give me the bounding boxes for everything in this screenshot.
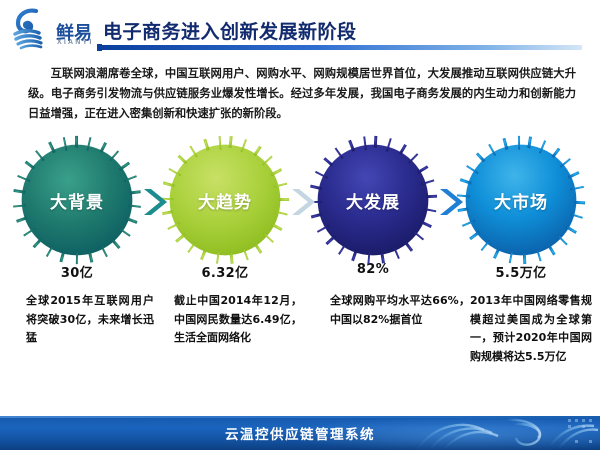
chevron-right-icon-2: [288, 186, 318, 218]
flow-step-1[interactable]: 大背景: [18, 141, 136, 259]
intro-paragraph: 互联网浪潮席卷全球，中国互联网用户、网购水平、网购规模居世界首位，大发展推动互联…: [28, 64, 576, 124]
logo-pinyin: XIANYI: [57, 39, 94, 46]
description-2: 截止中国2014年12月，中国网民数量达6.49亿，生活全面网络化: [174, 292, 302, 348]
chevron-right-icon-1: [140, 186, 170, 218]
brand-logo: 鲜易 XIANYI: [12, 8, 98, 52]
flow-step-4[interactable]: 大市场: [462, 141, 580, 259]
description-3: 全球网购平均水平达66%，中国以82%据首位: [330, 292, 470, 329]
footer-title: 云温控供应链管理系统: [0, 416, 600, 450]
slide-canvas: 鲜易 XIANYI 电子商务进入创新发展新阶段 互联网浪潮席卷全球，中国互联网用…: [0, 0, 600, 450]
bird-wave-logo-icon: [12, 8, 58, 50]
slide-header: 鲜易 XIANYI 电子商务进入创新发展新阶段: [0, 0, 600, 58]
flow-step-1-label: 大背景: [50, 188, 104, 213]
title-underline: [100, 45, 582, 50]
descriptions-row: 全球2015年互联网用户将突破30亿，未来增长迅猛 截止中国2014年12月，中…: [0, 292, 600, 392]
flow-step-3-label: 大发展: [346, 188, 400, 213]
flow-step-3[interactable]: 大发展: [314, 141, 432, 259]
page-title: 电子商务进入创新发展新阶段: [103, 17, 357, 44]
slide-footer: 云温控供应链管理系统: [0, 416, 600, 450]
chevron-right-icon-3: [436, 186, 466, 218]
description-4: 2013年中国网络零售规模超过美国成为全球第一，预计2020年中国网购规模将达5…: [470, 292, 592, 366]
process-flow: 大背景: [0, 138, 600, 268]
flow-step-2[interactable]: 大趋势: [166, 141, 284, 259]
flow-step-2-label: 大趋势: [198, 188, 252, 213]
flow-step-4-label: 大市场: [494, 188, 548, 213]
description-1: 全球2015年互联网用户将突破30亿，未来增长迅猛: [26, 292, 154, 348]
